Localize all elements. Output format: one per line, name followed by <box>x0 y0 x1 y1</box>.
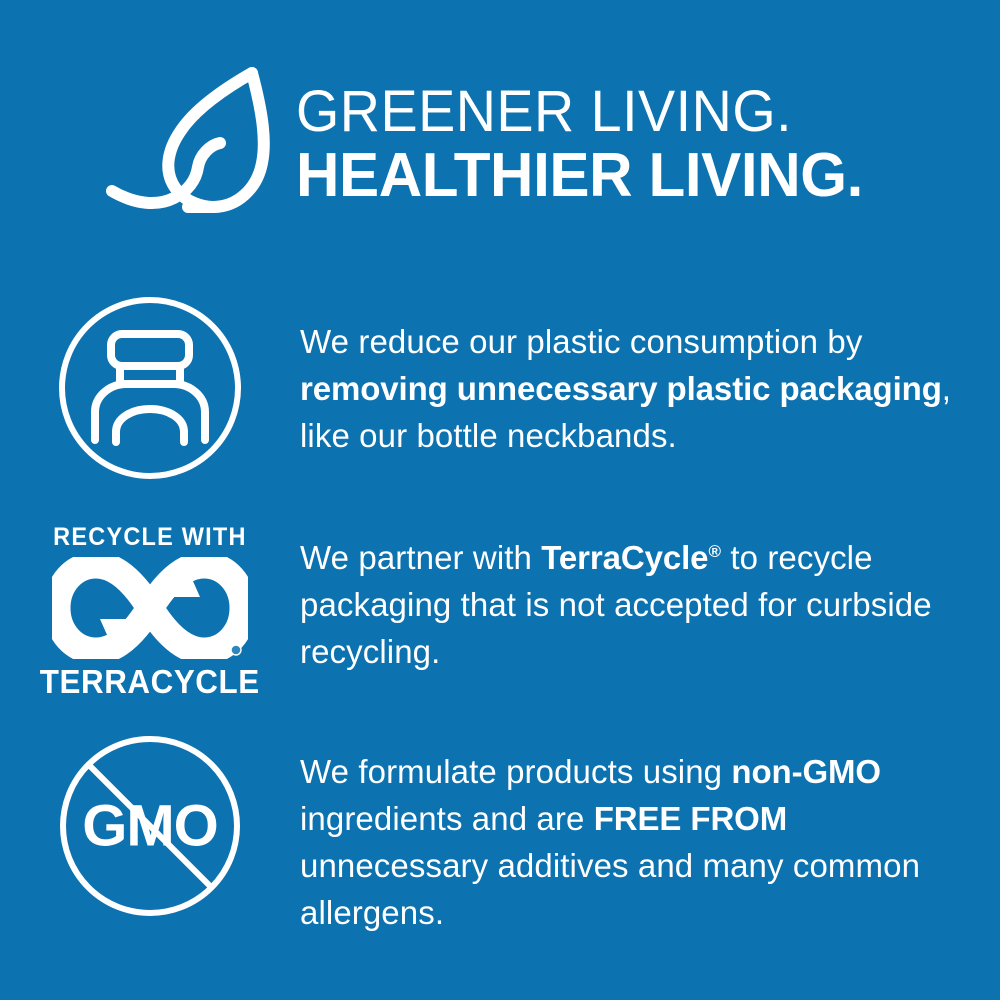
infinity-recycle-icon <box>52 557 248 659</box>
headline-line-2: HEALTHIER LIVING. <box>296 143 863 209</box>
text-cell-plastic-reduction: We reduce our plastic consumption by rem… <box>300 292 1000 459</box>
leaf-icon <box>104 67 290 227</box>
feature-text-terracycle: We partner with TerraCycle® to recycle p… <box>300 534 980 675</box>
headline-block: GREENER LIVING. HEALTHIER LIVING. <box>296 81 881 209</box>
feature-row-plastic-reduction: We reduce our plastic consumption by rem… <box>0 292 1000 484</box>
terracycle-logo: RECYCLE WITH TERRACYCLE <box>45 524 255 699</box>
no-gmo-icon: GMO <box>54 730 246 922</box>
greener-living-poster: GREENER LIVING. HEALTHIER LIVING. We red… <box>0 0 1000 1000</box>
poster-header: GREENER LIVING. HEALTHIER LIVING. <box>0 62 1000 227</box>
feature-row-non-gmo: GMO We formulate products using non-GMO … <box>0 730 1000 936</box>
feature-row-terracycle: RECYCLE WITH TERRACYCLE We partner with … <box>0 518 1000 699</box>
feature-text-non-gmo: We formulate products using non-GMO ingr… <box>300 748 980 936</box>
bottle-neckband-icon <box>54 292 246 484</box>
icon-cell-terracycle: RECYCLE WITH TERRACYCLE <box>0 518 300 699</box>
no-gmo-label: GMO <box>82 794 218 859</box>
text-cell-terracycle: We partner with TerraCycle® to recycle p… <box>300 518 1000 675</box>
terracycle-bottom-label: TERRACYCLE <box>40 661 260 699</box>
text-cell-non-gmo: We formulate products using non-GMO ingr… <box>300 730 1000 936</box>
icon-cell-no-gmo: GMO <box>0 730 300 922</box>
feature-text-plastic-reduction: We reduce our plastic consumption by rem… <box>300 318 980 459</box>
terracycle-top-label: RECYCLE WITH <box>53 524 247 551</box>
headline-line-1: GREENER LIVING. <box>296 81 857 143</box>
icon-cell-bottle <box>0 292 300 484</box>
